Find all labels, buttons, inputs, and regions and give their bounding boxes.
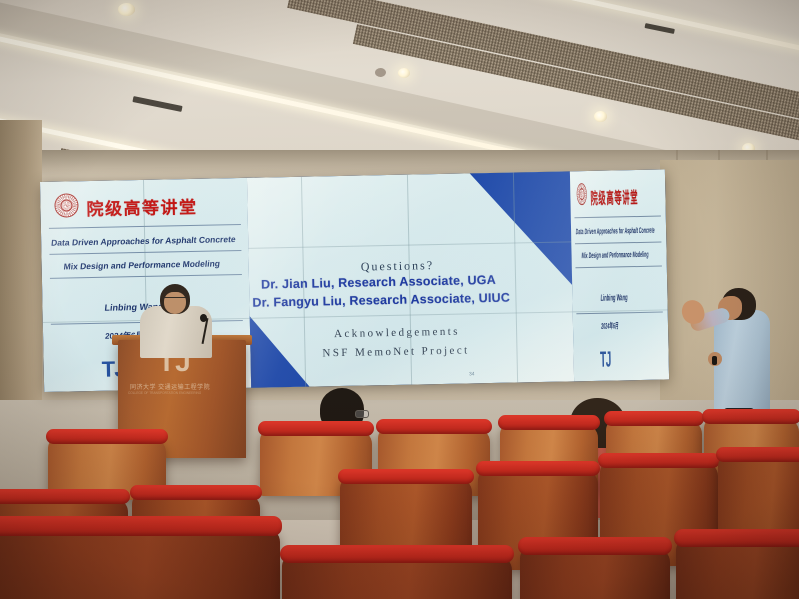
downlight [118,3,135,16]
slide-panel-right: 院级高等讲堂 Data Driven Approaches for Asphal… [570,169,669,381]
university-seal-icon [54,193,78,217]
slide-page-number: 34 [469,371,475,377]
credit-line-2: Dr. Fangyu Liu, Research Associate, UIUC [252,291,510,310]
questions-label: Questions? [361,258,435,274]
seat[interactable] [676,540,799,599]
downlight [398,68,410,78]
speaker-at-podium-face [164,292,186,314]
glasses-icon [355,410,369,418]
slide-panel-main: Questions? Dr. Jian Liu, Research Associ… [247,171,574,387]
slide-title-line2: Mix Design and Performance Modeling [63,258,220,271]
lectern-org-cn: 同济大学 交通运输工程学院 [130,382,210,391]
lecture-hall-photo: 院级高等讲堂 Data Driven Approaches for Asphal… [0,0,799,599]
handheld-microphone-icon [712,356,717,365]
seat[interactable] [0,528,280,599]
lectern-org-en: COLLEGE OF TRANSPORTATION ENGINEERING [128,391,201,395]
slide-accent-triangle-bottom-left [248,313,312,388]
standing-presenter-torso [714,310,770,414]
acknowledgements-heading: Acknowledgements [334,326,460,341]
ceiling-slot [132,96,182,112]
acknowledgements-body: NSF MemoNet Project [322,344,469,359]
university-seal-icon [577,183,587,205]
slide-banner-cn-right: 院级高等讲堂 [590,184,638,209]
slide-title-line1-right: Data Driven Approaches for Asphalt Concr… [575,226,654,237]
ceiling-slot [645,23,675,34]
slide-banner-cn: 院级高等讲堂 [86,193,197,220]
seat[interactable] [282,556,512,599]
downlight [594,111,607,122]
credit-line-1: Dr. Jian Liu, Research Associate, UGA [261,273,496,292]
slide-title-line2-right: Mix Design and Performance Modeling [581,250,648,260]
slide-accent-triangle-top-right [468,171,574,289]
microphone-icon [200,314,207,322]
ceiling-speaker [375,68,386,77]
slide-speaker-name-right: Linbing Wang [600,292,627,303]
tongji-logo-slide-right: TJ [600,349,611,371]
glasses-icon [163,297,187,303]
seat[interactable] [520,548,670,599]
slide-date-right: 2024年6月 [601,320,619,331]
